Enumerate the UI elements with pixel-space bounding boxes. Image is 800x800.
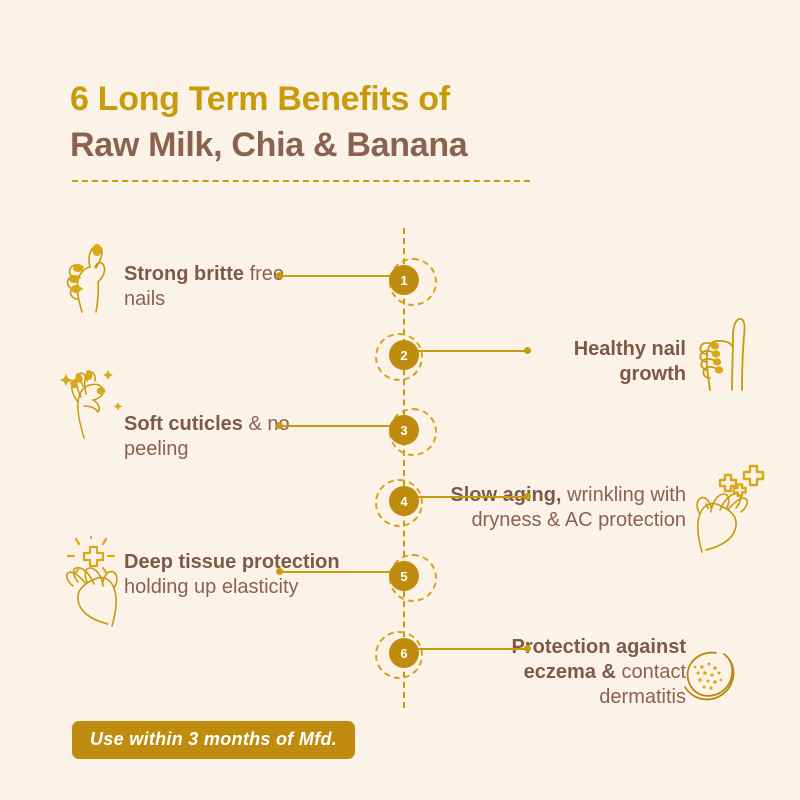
connector-dot-6 <box>524 645 531 652</box>
benefit-text-1: Strong britte free nails <box>124 262 304 312</box>
connector-line-5 <box>282 571 390 573</box>
step-badge-3[interactable]: 3 <box>389 415 419 445</box>
connector-line-4 <box>418 496 526 498</box>
page-title: 6 Long Term Benefits of Raw Milk, Chia &… <box>70 82 710 162</box>
connector-dot-4 <box>524 493 531 500</box>
fist-nails-icon <box>688 310 756 392</box>
benefit-text-4: Slow aging, wrinkling with dryness & AC … <box>446 483 686 533</box>
benefit-bold-5: Deep tissue protection <box>124 551 340 573</box>
title-dashed-underline <box>72 180 530 182</box>
benefit-bold-2: Healthy nail growth <box>574 338 686 385</box>
step-badge-2[interactable]: 2 <box>389 340 419 370</box>
step-badge-4[interactable]: 4 <box>389 486 419 516</box>
benefit-bold-3: Soft cuticles <box>124 413 243 435</box>
mfd-note-badge: Use within 3 months of Mfd. <box>72 721 355 759</box>
hand-nails-icon <box>52 236 124 314</box>
benefit-text-5: Deep tissue protection holding up elasti… <box>124 550 346 600</box>
benefit-text-6: Protection against eczema & contact derm… <box>446 635 686 710</box>
benefit-text-3: Soft cuticles & no peeling <box>124 412 314 462</box>
connector-line-6 <box>418 648 526 650</box>
step-badge-5[interactable]: 5 <box>389 561 419 591</box>
benefit-text-2: Healthy nail growth <box>506 337 686 387</box>
step-badge-6[interactable]: 6 <box>389 638 419 668</box>
hand-crosses-icon <box>686 462 772 554</box>
title-line-1: 6 Long Term Benefits of <box>70 82 710 116</box>
hand-sparkle-icon <box>46 356 130 440</box>
benefit-bold-1: Strong britte <box>124 263 244 285</box>
connector-line-1 <box>282 275 390 277</box>
title-line-2: Raw Milk, Chia & Banana <box>70 128 710 162</box>
step-badge-1[interactable]: 1 <box>389 265 419 295</box>
hand-shield-cross-icon <box>46 536 134 628</box>
infographic-canvas: 6 Long Term Benefits of Raw Milk, Chia &… <box>0 0 800 800</box>
skin-dots-circle-icon <box>678 645 738 705</box>
benefit-bold-4: Slow aging, <box>450 484 561 506</box>
connector-line-2 <box>418 350 526 352</box>
benefit-rest-5: holding up elasticity <box>124 576 299 598</box>
connector-line-3 <box>282 425 390 427</box>
connector-dot-2 <box>524 347 531 354</box>
